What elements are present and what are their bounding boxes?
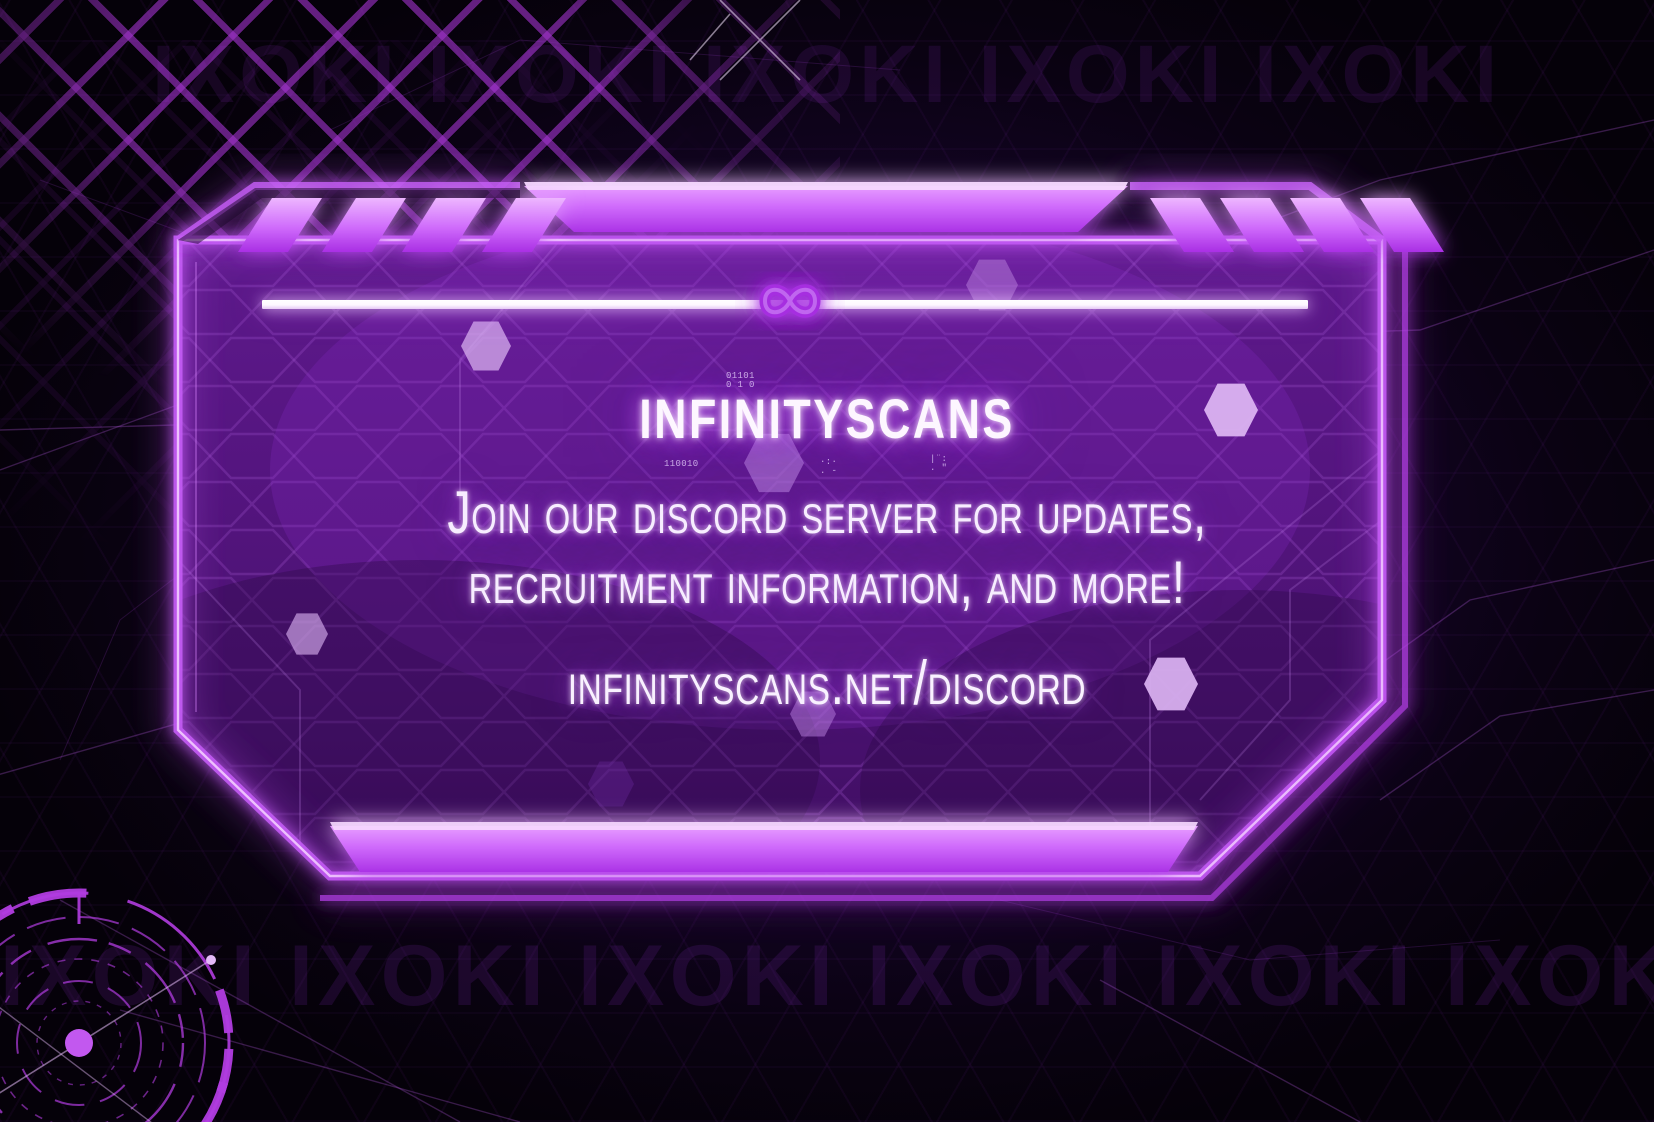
- bottom-accent-bar: [330, 822, 1198, 872]
- right-stripe-group: [1150, 198, 1444, 252]
- banner-stage: IXOKI IXOKI IXOKI IXOKI IXOKI IXOKI IXOK…: [0, 0, 1654, 1122]
- top-accent-bar: [524, 182, 1128, 232]
- hud-panel-frame: [0, 0, 1654, 1122]
